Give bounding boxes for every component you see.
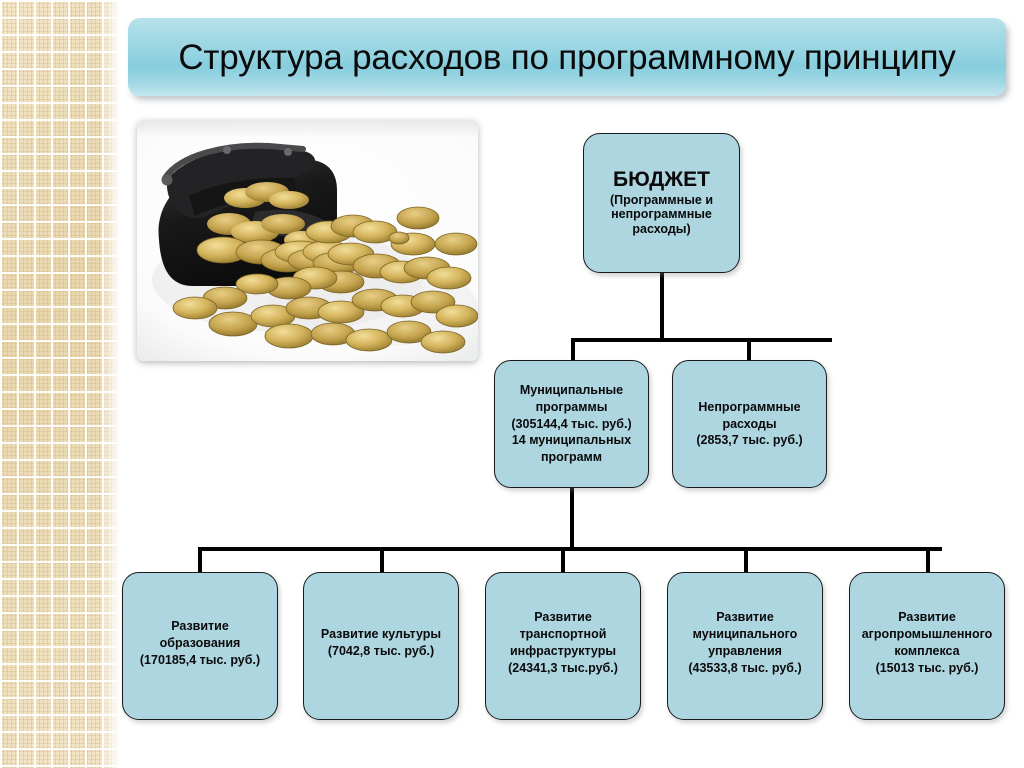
node-agro-line-1: Развитие bbox=[855, 609, 999, 626]
node-municipal-programs-amount: (305144,4 тыс. руб.) bbox=[500, 416, 643, 433]
node-agro-line-2: агропромышленного bbox=[855, 626, 999, 643]
node-culture-development[interactable]: Развитие культуры (7042,8 тыс. руб.) bbox=[303, 572, 459, 720]
node-education-amount: (170185,4 тыс. руб.) bbox=[128, 652, 272, 669]
node-management-line-3: управления bbox=[673, 643, 817, 660]
node-education-line-1: Развитие bbox=[128, 618, 272, 635]
slide-canvas: Структура расходов по программному принц… bbox=[0, 0, 1024, 768]
node-transport-infrastructure-development[interactable]: Развитие транспортной инфраструктуры (24… bbox=[485, 572, 641, 720]
node-agro-amount: (15013 тыс. руб.) bbox=[855, 660, 999, 677]
node-budget-title: БЮДЖЕТ bbox=[589, 169, 734, 192]
node-municipal-programs-line-5: программ bbox=[500, 449, 643, 466]
connector-stub-agro bbox=[926, 547, 930, 573]
node-budget-subtitle-line-1: (Программные и bbox=[589, 193, 734, 208]
node-nonprogram-line-1: Непрограммные bbox=[678, 399, 821, 416]
node-municipal-programs-line-2: программы bbox=[500, 399, 643, 416]
node-transport-line-2: транспортной bbox=[491, 626, 635, 643]
connector-level2-horizontal bbox=[571, 338, 832, 342]
node-nonprogram-line-2: расходы bbox=[678, 416, 821, 433]
node-management-line-2: муниципального bbox=[673, 626, 817, 643]
node-budget-subtitle-line-3: расходы) bbox=[589, 222, 734, 237]
connector-stub-municipal bbox=[571, 338, 575, 362]
node-culture-line-1: Развитие культуры bbox=[309, 626, 453, 643]
coins-purse-photo bbox=[137, 120, 478, 361]
node-education-line-2: образования bbox=[128, 635, 272, 652]
node-municipal-programs[interactable]: Муниципальные программы (305144,4 тыс. р… bbox=[494, 360, 649, 488]
connector-stub-transport bbox=[561, 547, 565, 573]
node-agro-complex-development[interactable]: Развитие агропромышленного комплекса (15… bbox=[849, 572, 1005, 720]
node-nonprogram-expenses[interactable]: Непрограммные расходы (2853,7 тыс. руб.) bbox=[672, 360, 827, 488]
node-management-line-1: Развитие bbox=[673, 609, 817, 626]
node-municipal-management-development[interactable]: Развитие муниципального управления (4353… bbox=[667, 572, 823, 720]
connector-budget-vertical bbox=[660, 273, 664, 341]
connector-stub-nonprogram bbox=[747, 338, 751, 362]
connector-stub-management bbox=[744, 547, 748, 573]
node-transport-amount: (24341,3 тыс.руб.) bbox=[491, 660, 635, 677]
connector-stub-culture bbox=[380, 547, 384, 573]
connector-level3-horizontal bbox=[198, 547, 942, 551]
node-transport-line-3: инфраструктуры bbox=[491, 643, 635, 660]
node-municipal-programs-line-1: Муниципальные bbox=[500, 382, 643, 399]
connector-municipal-vertical bbox=[570, 488, 574, 550]
page-title: Структура расходов по программному принц… bbox=[178, 40, 955, 75]
node-education-development[interactable]: Развитие образования (170185,4 тыс. руб.… bbox=[122, 572, 278, 720]
coins-purse-illustration bbox=[137, 120, 478, 361]
node-budget[interactable]: БЮДЖЕТ (Программные и непрограммные расх… bbox=[583, 133, 740, 273]
node-budget-subtitle-line-2: непрограммные bbox=[589, 207, 734, 222]
connector-stub-education bbox=[198, 547, 202, 573]
node-municipal-programs-line-4: 14 муниципальных bbox=[500, 432, 643, 449]
node-nonprogram-amount: (2853,7 тыс. руб.) bbox=[678, 432, 821, 449]
node-agro-line-3: комплекса bbox=[855, 643, 999, 660]
node-culture-amount: (7042,8 тыс. руб.) bbox=[309, 643, 453, 660]
slide-title-banner: Структура расходов по программному принц… bbox=[128, 18, 1006, 96]
node-management-amount: (43533,8 тыс. руб.) bbox=[673, 660, 817, 677]
node-transport-line-1: Развитие bbox=[491, 609, 635, 626]
